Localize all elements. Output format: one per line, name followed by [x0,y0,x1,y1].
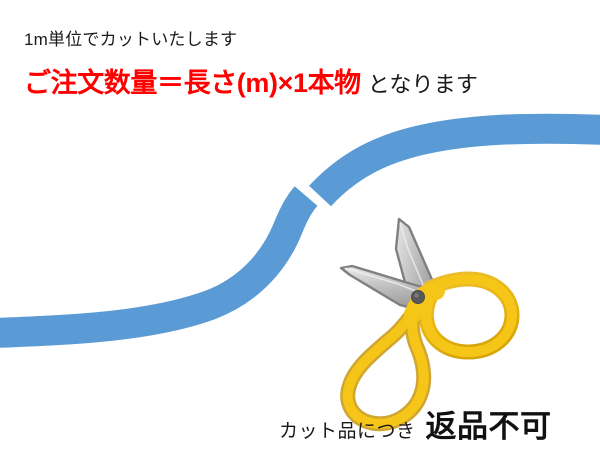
cable-lower-segment [0,196,306,333]
order-quantity-note: ご注文数量＝長さ(m)×1本物となります [24,68,478,99]
cable-upper-segment [320,129,600,196]
order-quantity-suffix: となります [368,72,478,97]
scissors-handle-right [424,279,512,352]
scissors-blade-upper [396,219,437,306]
return-policy-prefix: カット品につき [279,421,416,442]
return-policy-note: カット品につき返品不可 [279,410,552,444]
scissors-handle-left [348,302,424,424]
notice-graphic: 1m単位でカットいたします ご注文数量＝長さ(m)×1本物となります カット品に… [0,0,600,466]
cut-unit-note: 1m単位でカットいたします [24,30,237,50]
return-policy-emphasis: 返品不可 [426,409,552,444]
scissors-blade-lower [341,266,435,311]
scissors [341,219,512,424]
order-quantity-formula: ご注文数量＝長さ(m)×1本物 [24,68,361,98]
scissors-pivot-icon [412,291,425,304]
